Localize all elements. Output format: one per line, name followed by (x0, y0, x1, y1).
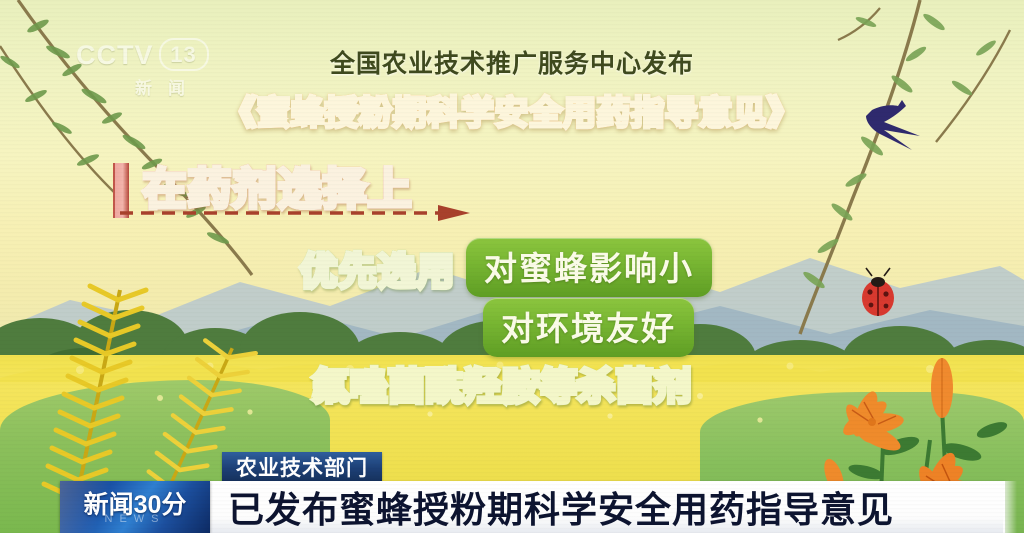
criteria-pill-eco-friendly: 对环境友好 (483, 298, 694, 357)
header-titles: 全国农业技术推广服务中心发布 《蜜蜂授粉期科学安全用药指导意见》 (0, 44, 1024, 134)
criteria-pill-bee-impact-label: 对蜜蜂影响小 (484, 242, 694, 290)
document-title: 《蜜蜂授粉期科学安全用药指导意见》 (0, 86, 1024, 134)
source-tag: 农业技术部门 (222, 452, 382, 481)
source-tag-label: 农业技术部门 (236, 452, 368, 482)
priority-row: 优先选用 对蜜蜂影响小 (300, 238, 712, 297)
program-logo: 新闻30分 NEWS (60, 481, 210, 533)
broadcast-screen: CCTV 13 新闻 全国农业技术推广服务中心发布 《蜜蜂授粉期科学安全用药指导… (0, 0, 1024, 533)
conclusion-text: 氟唑菌酰羟胺等杀菌剂 (312, 356, 692, 410)
priority-lead-text: 优先选用 (300, 241, 456, 295)
criteria-pill-eco-friendly-label: 对环境友好 (501, 302, 676, 350)
news-headline: 已发布蜜蜂授粉期科学安全用药指导意见 (228, 481, 894, 533)
criteria-row-2: 对环境友好 (483, 298, 694, 357)
program-logo-en: NEWS (60, 513, 210, 525)
criteria-pill-bee-impact: 对蜜蜂影响小 (466, 238, 712, 297)
dashed-arrow-icon (120, 205, 470, 221)
issuer-line: 全国农业技术推广服务中心发布 (0, 44, 1024, 80)
